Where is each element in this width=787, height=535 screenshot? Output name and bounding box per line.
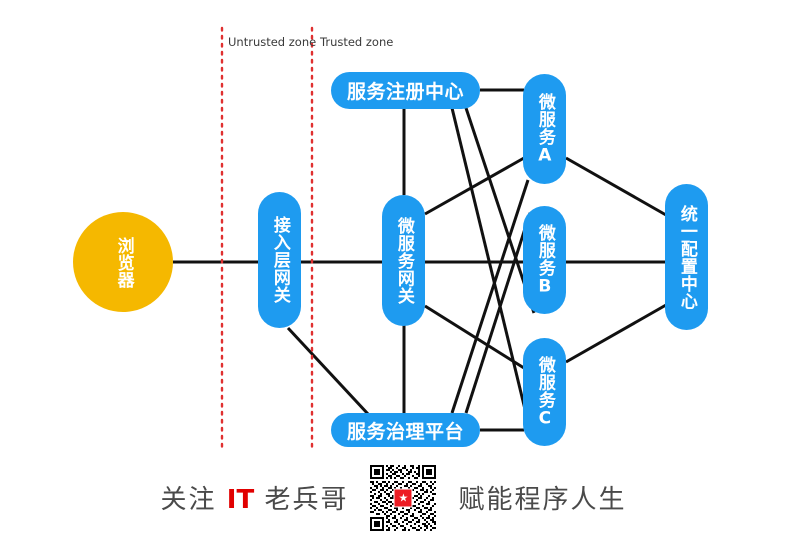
node-service-governance[interactable]: 服务治理平台 bbox=[331, 413, 480, 447]
trusted-zone-label: Trusted zone bbox=[320, 35, 393, 49]
untrusted-zone-label: Untrusted zone bbox=[228, 35, 316, 49]
node-service-registry[interactable]: 服务注册中心 bbox=[331, 72, 480, 109]
footer-branding: 关注 IT 老兵哥 bbox=[0, 462, 787, 533]
link-microservice-a-config-center bbox=[566, 158, 666, 215]
footer-left-prefix: 关注 bbox=[161, 485, 227, 515]
node-access-gateway[interactable]: 接入层网关 bbox=[258, 192, 301, 328]
footer-right-text: 赋能程序人生 bbox=[458, 479, 626, 516]
link-micro-gateway-microservice-c bbox=[425, 306, 524, 368]
node-microservice-a[interactable]: 微服务A bbox=[523, 74, 566, 184]
node-browser[interactable]: 浏览器 bbox=[73, 212, 173, 312]
link-access-gateway-governance bbox=[288, 328, 368, 414]
footer-left-highlight: IT bbox=[227, 485, 254, 515]
node-microservice-c[interactable]: 微服务C bbox=[523, 338, 566, 446]
node-microservice-b[interactable]: 微服务B bbox=[523, 206, 566, 314]
link-governance-microservice-b bbox=[466, 213, 530, 413]
diagram-canvas: Untrusted zone Trusted zone 浏览器 接入层网关 服务… bbox=[0, 0, 787, 533]
qr-code-icon: ★ bbox=[370, 465, 436, 531]
qr-center-star-icon: ★ bbox=[394, 488, 413, 507]
link-microservice-c-config-center bbox=[566, 305, 666, 362]
footer-left-suffix: 老兵哥 bbox=[254, 485, 348, 515]
footer-left-text: 关注 IT 老兵哥 bbox=[161, 479, 349, 516]
node-micro-gateway[interactable]: 微服务网关 bbox=[382, 195, 425, 326]
node-config-center[interactable]: 统一配置中心 bbox=[665, 184, 708, 330]
